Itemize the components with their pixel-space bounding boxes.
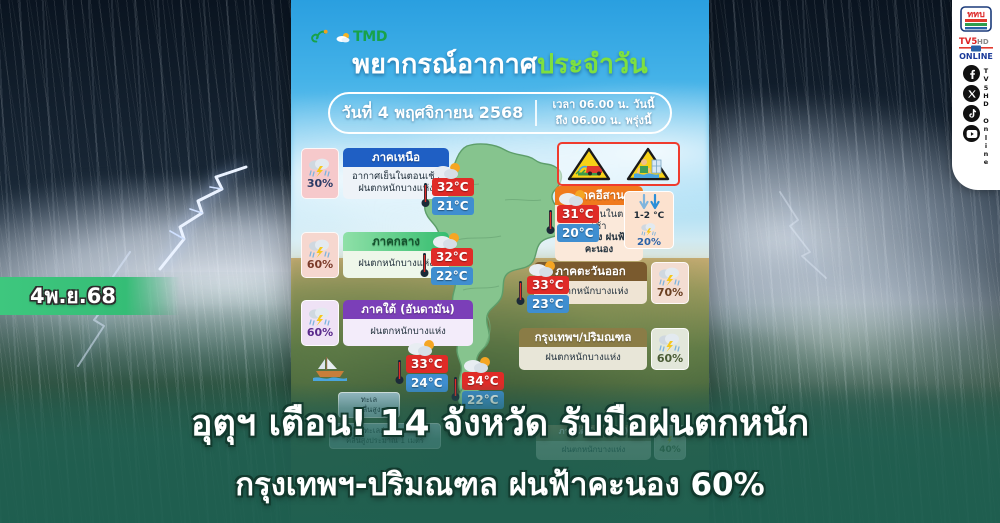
headline-primary: อุตุฯ เตือน! 14 จังหวัด รับมือฝนตกหนัก [191, 394, 809, 451]
region-bangkok-body: กรุงเทพฯ/ปริมณฑล ฝนตกหนักบางแห่ง [519, 328, 647, 370]
forecast-date: วันที่ 4 พฤศจิกายน 2568 [330, 101, 535, 126]
temperature-high-andaman: 33°C [406, 355, 448, 373]
poster-title: พยากรณ์อากาศประจำวัน [291, 50, 709, 80]
rain-thunder-icon [307, 306, 333, 326]
temperature-low-central: 22°C [431, 267, 473, 285]
temperature-badge-central: 32°C 22°C [420, 248, 473, 285]
social-links-row: TV5HD Online [963, 65, 989, 167]
region-andaman-rain-chance: 60% [301, 300, 339, 346]
region-card-south-andaman[interactable]: 60% ภาคใต้ (อันดามัน) ฝนตกหนักบางแห่ง [301, 300, 473, 346]
headline-banner: อุตุฯ เตือน! 14 จังหวัด รับมือฝนตกหนัก ก… [0, 383, 1000, 523]
tmd-text: TMD [353, 29, 387, 45]
region-central-rain-chance: 60% [301, 232, 339, 278]
temperature-values-northeast: 31°C 20°C [557, 205, 599, 242]
region-east-rain-chance: 70% [651, 262, 689, 304]
region-card-bangkok[interactable]: กรุงเทพฯ/ปริมณฑล ฝนตกหนักบางแห่ง 60% [519, 328, 689, 370]
temperature-badge-northeast: 31°C 20°C [546, 205, 599, 242]
temperature-high-east: 33°C [527, 276, 569, 294]
temperature-low-north: 21°C [432, 197, 474, 215]
thermometer-icon [546, 209, 555, 235]
date-badge-band: 4พ.ย.68 [0, 277, 180, 315]
temperature-drop-value: 1-2 °C [634, 211, 665, 221]
thermometer-icon [516, 280, 525, 306]
region-north-rain-chance: 30% [301, 148, 339, 199]
forecast-time-range: เวลา 06.00 น. วันนี้ ถึง 06.00 น. พรุ่งน… [537, 97, 670, 129]
cloud-sun-icon [406, 339, 436, 357]
tv5hd-online-logo: TV5 HD ONLINE [957, 35, 995, 61]
tmd-wordmark: TMD [336, 29, 387, 45]
temperature-badge-east: 33°C 23°C [516, 276, 569, 313]
boat-icon [313, 355, 347, 381]
cloud-sun-icon [527, 260, 557, 278]
cloud-sun-icon [432, 162, 462, 180]
social-vertical-label: TV5HD Online [983, 65, 989, 167]
thermometer-icon [421, 182, 430, 208]
cloud-sun-icon [431, 232, 461, 250]
tiktok-icon[interactable] [963, 105, 980, 122]
temperature-low-east: 23°C [527, 295, 569, 313]
temperature-badge-north: 32°C 21°C [421, 178, 474, 215]
cloud-sun-icon [557, 189, 587, 207]
car-hydroplane-warning-icon [566, 146, 612, 182]
forecast-time-to: ถึง 06.00 น. พรุ่งนี้ [537, 113, 670, 129]
temperature-drop-percent: 20% [637, 237, 661, 248]
temperature-values-north: 32°C 21°C [432, 178, 474, 215]
tv5-hd-text: HD [977, 38, 989, 46]
down-arrow-icon [639, 194, 660, 210]
social-icons [963, 65, 980, 167]
online-text: ONLINE [959, 52, 993, 61]
poster-title-white: พยากรณ์อากาศ [352, 49, 537, 80]
rain-thunder-icon [307, 157, 333, 177]
region-bangkok-rain-chance: 60% [651, 328, 689, 370]
rain-thunder-icon [657, 332, 683, 352]
thermometer-icon [395, 359, 404, 385]
poster-title-green: ประจำวัน [537, 49, 648, 80]
weather-warning-box [557, 142, 680, 186]
temperature-low-northeast: 20°C [557, 224, 599, 242]
temperature-values-central: 32°C 22°C [431, 248, 473, 285]
channel-logo-icon: ททบ [960, 6, 992, 32]
date-badge-label: 4พ.ย.68 [0, 280, 116, 313]
flood-warning-icon [625, 146, 671, 182]
channel-logo-text: ททบ [967, 10, 985, 20]
rain-thunder-icon [657, 266, 683, 286]
region-andaman-percent: 60% [307, 326, 333, 339]
thermometer-icon [420, 252, 429, 278]
facebook-icon[interactable] [963, 65, 980, 82]
x-twitter-icon[interactable] [963, 85, 980, 102]
rain-thunder-icon [307, 238, 333, 258]
region-central-percent: 60% [307, 258, 333, 271]
forecast-date-pill: วันที่ 4 พฤศจิกายน 2568 เวลา 06.00 น. วั… [328, 92, 672, 134]
temperature-high-north: 32°C [432, 178, 474, 196]
forecast-time-from: เวลา 06.00 น. วันนี้ [537, 97, 670, 113]
tmd-logo: TMD [309, 26, 387, 48]
lightning-bolt-right-icon [770, 190, 840, 280]
youtube-icon[interactable] [963, 125, 980, 142]
region-bangkok-desc: ฝนตกหนักบางแห่ง [519, 347, 647, 370]
region-north-percent: 30% [307, 177, 333, 190]
temperature-high-central: 32°C [431, 248, 473, 266]
social-sidebar: ททบ TV5 HD ONLINE TV5HD Online [952, 0, 1000, 190]
region-andaman-title: ภาคใต้ (อันดามัน) [343, 300, 473, 319]
region-east-percent: 70% [657, 286, 683, 299]
rain-thunder-icon [636, 222, 662, 236]
temperature-values-east: 33°C 23°C [527, 276, 569, 313]
headline-secondary: กรุงเทพฯ-ปริมณฑล ฝนฟ้าคะนอง 60% [235, 459, 764, 509]
tmd-swirl-icon [309, 26, 331, 48]
temperature-drop-indicator: 1-2 °C 20% [624, 191, 674, 249]
temperature-high-northeast: 31°C [557, 205, 599, 223]
cloud-sun-icon [462, 356, 492, 374]
region-bangkok-percent: 60% [657, 352, 683, 365]
region-bangkok-title: กรุงเทพฯ/ปริมณฑล [519, 328, 647, 347]
lightning-bolt-icon [150, 165, 270, 275]
tmd-sun-icon [336, 32, 351, 43]
